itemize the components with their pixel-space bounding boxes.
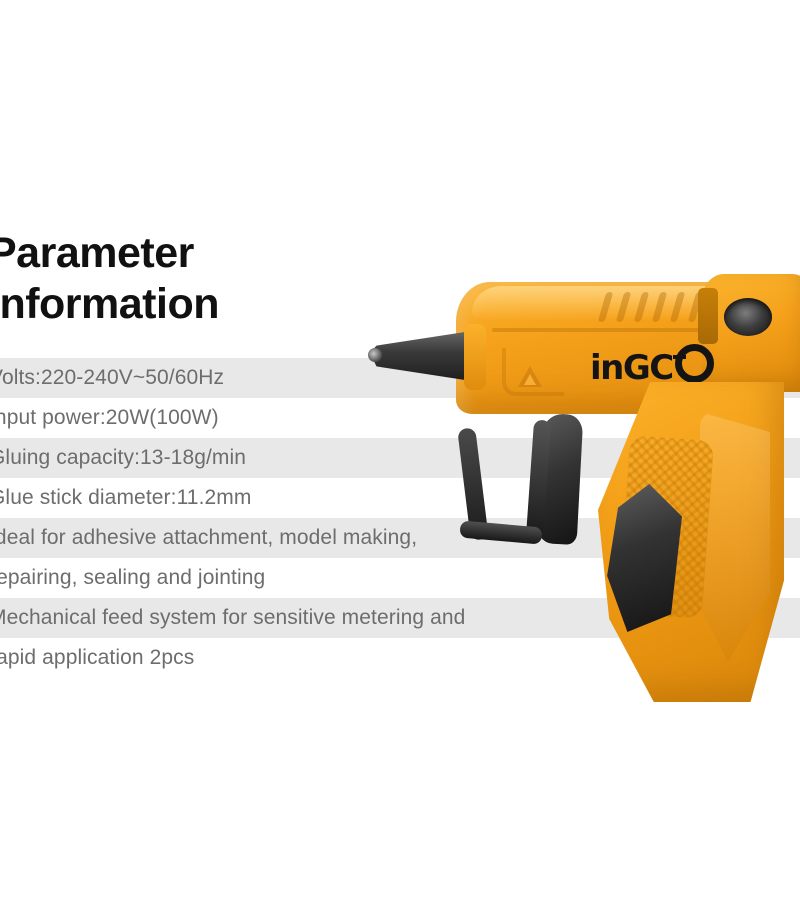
- page-title-line-1: Parameter: [0, 228, 408, 279]
- rear-notch: [698, 288, 718, 344]
- page-title: Parameter Information: [0, 228, 408, 330]
- nozzle-collar: [464, 324, 486, 390]
- nozzle-cone: [370, 330, 478, 382]
- product-image-glue-gun: inGC: [352, 262, 800, 732]
- nozzle-tip-icon: [368, 348, 382, 362]
- spec-text: Glue stick diameter:11.2mm: [0, 478, 251, 518]
- glue-stick-feed-hole: [724, 298, 772, 336]
- product-parameter-page: Parameter Information Volts:220-240V~50/…: [0, 0, 800, 900]
- spec-text: Input power:20W(100W): [0, 398, 219, 438]
- page-title-line-2: Information: [0, 279, 408, 330]
- spec-text: Gluing capacity:13-18g/min: [0, 438, 246, 478]
- ingco-logo-ring-icon: [675, 344, 714, 383]
- spec-text: Volts:220-240V~50/60Hz: [0, 358, 224, 398]
- hot-surface-warning-inner-icon: [524, 374, 536, 385]
- ingco-brand-logo: inGC: [590, 344, 714, 385]
- spec-text: repairing, sealing and jointing: [0, 558, 265, 598]
- spec-text: rapid application 2pcs: [0, 638, 194, 678]
